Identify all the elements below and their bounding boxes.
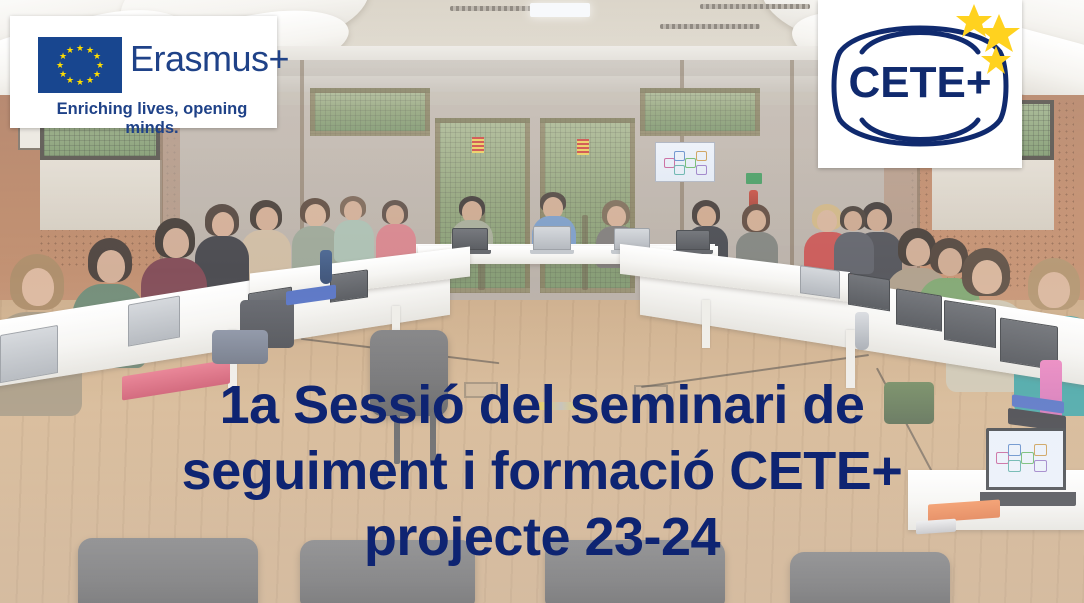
head — [607, 206, 626, 227]
eu-star-icon: ★ — [59, 70, 67, 78]
erasmus-wordmark: Erasmus+ — [130, 38, 289, 80]
head — [747, 210, 766, 231]
catalan-flag — [472, 137, 484, 153]
garden-view — [640, 88, 760, 136]
erasmus-tagline: Enriching lives, opening minds. — [32, 100, 272, 138]
eu-star-icon: ★ — [66, 46, 74, 54]
head — [305, 204, 326, 227]
head — [1038, 272, 1070, 308]
head — [22, 268, 54, 306]
backpack — [212, 330, 268, 364]
water-bottle — [855, 312, 869, 350]
fire-exit-sign — [746, 173, 762, 184]
laptop-lid — [848, 273, 890, 312]
laptop-lid — [452, 228, 488, 250]
head — [844, 211, 862, 231]
water-bottle — [320, 250, 332, 284]
poster-title: 1a Sessió del seminari de seguiment i fo… — [0, 372, 1084, 570]
hex-node — [674, 165, 685, 175]
head — [386, 205, 404, 225]
erasmus-plus-logo: ★ ★ ★ ★ ★ ★ ★ ★ ★ ★ ★ ★ Erasmus+ Enrichi… — [10, 16, 277, 128]
low-wall-left — [40, 160, 162, 230]
ceiling-vent — [660, 24, 760, 29]
laptop-base — [530, 250, 574, 254]
title-line-3: projecte 23-24 — [0, 504, 1084, 570]
head — [867, 209, 887, 231]
laptop-lid — [800, 265, 840, 299]
head — [906, 238, 930, 266]
hex-node — [685, 158, 696, 168]
poster: ★ ★ ★ ★ ★ ★ ★ ★ ★ ★ ★ ★ Erasmus+ Enrichi… — [0, 0, 1084, 603]
head — [212, 212, 234, 237]
garden-view — [310, 88, 430, 136]
laptop-lid — [533, 226, 571, 250]
eu-star-icon: ★ — [86, 76, 94, 84]
head — [697, 206, 716, 227]
catalan-flag — [577, 139, 589, 155]
european-union-flag-icon: ★ ★ ★ ★ ★ ★ ★ ★ ★ ★ ★ ★ — [38, 37, 122, 93]
eu-star-icon: ★ — [76, 78, 84, 86]
ceiling-vent — [700, 4, 810, 9]
eu-star-icon: ★ — [93, 70, 101, 78]
title-line-1: 1a Sessió del seminari de — [0, 372, 1084, 438]
torso — [334, 220, 374, 262]
laptop-lid — [896, 288, 942, 331]
eu-star-icon: ★ — [96, 61, 104, 69]
head — [972, 260, 1002, 294]
eu-star-icon: ★ — [66, 76, 74, 84]
wall-monitor — [655, 142, 715, 182]
hex-node — [696, 165, 707, 175]
table-leg — [702, 300, 710, 348]
hex-node — [696, 151, 707, 161]
head — [97, 250, 125, 283]
head — [344, 201, 362, 221]
eu-star-icon: ★ — [93, 52, 101, 60]
cete-wordmark: CETE+ — [818, 58, 1022, 108]
ceiling-light — [530, 3, 590, 17]
title-line-2: seguiment i formació CETE+ — [0, 438, 1084, 504]
hex-node — [674, 151, 685, 161]
head — [817, 210, 837, 232]
laptop-lid — [676, 230, 710, 250]
head — [163, 228, 189, 258]
head — [256, 207, 278, 231]
low-wall-right — [932, 160, 1054, 230]
head — [938, 248, 962, 276]
cete-plus-logo: CETE+ — [818, 0, 1022, 168]
torso — [834, 232, 874, 274]
eu-star-icon: ★ — [56, 61, 64, 69]
laptop-lid — [944, 300, 996, 348]
eu-star-icon: ★ — [76, 44, 84, 52]
